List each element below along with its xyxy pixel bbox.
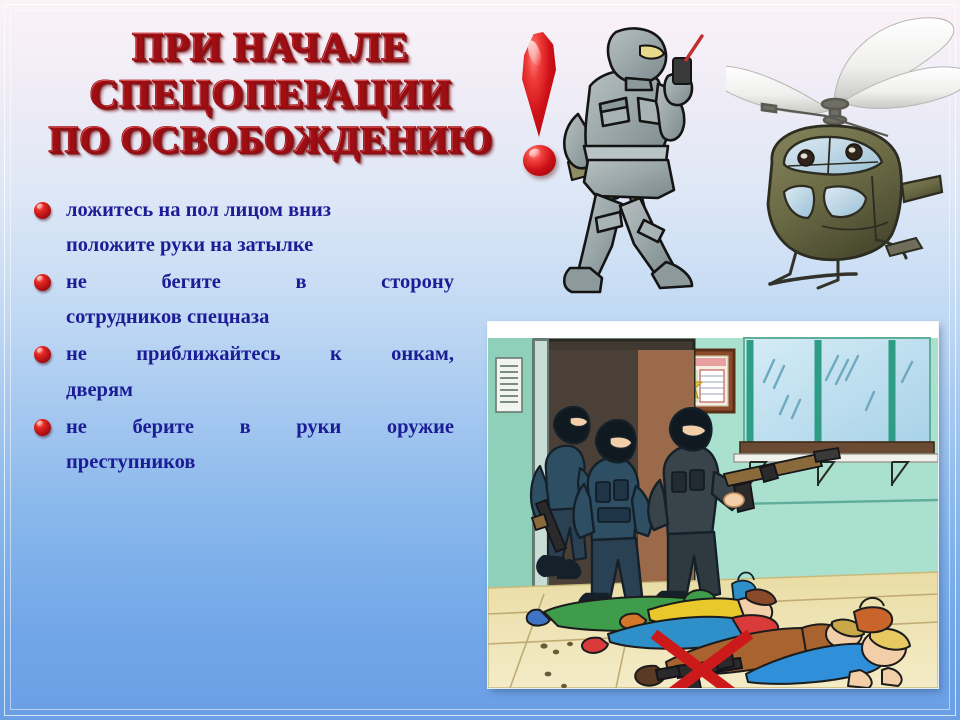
list-item-label: ложитесь на пол лицом вниз — [66, 196, 454, 225]
list-item-label: не берите в руки оружие — [66, 413, 454, 442]
list-item: сотрудников спецназа — [34, 303, 454, 332]
military-helicopter-illustration — [726, 16, 960, 296]
title-line-3: ПО ОСВОБОЖДЕНИЮ — [20, 120, 520, 159]
bullet-marker-icon — [34, 419, 51, 436]
list-item-label: дверям — [66, 376, 454, 405]
title-line-1: ПРИ НАЧАЛЕ — [20, 26, 520, 67]
list-item: не бегите в сторону — [34, 268, 454, 297]
bullet-marker-icon — [34, 202, 51, 219]
title-line-2: СПЕЦОПЕРАЦИИ — [20, 73, 520, 114]
list-item: не приближайтесь к онкам, — [34, 340, 454, 369]
list-item: преступников — [34, 448, 454, 477]
special-forces-soldier-illustration — [540, 22, 750, 312]
list-item-label: не бегите в сторону — [66, 268, 454, 297]
list-item-label: положите руки на затылке — [66, 231, 454, 260]
bullet-marker-icon — [34, 346, 51, 363]
list-item: ложитесь на пол лицом вниз — [34, 196, 454, 225]
list-item: дверям — [34, 376, 454, 405]
instruction-list: ложитесь на пол лицом вниз положите руки… — [34, 196, 454, 485]
list-item: не берите в руки оружие — [34, 413, 454, 442]
hostage-rescue-scene-illustration — [488, 322, 938, 688]
list-item-label: не приближайтесь к онкам, — [66, 340, 454, 369]
bullet-marker-icon — [34, 274, 51, 291]
list-item: положите руки на затылке — [34, 231, 454, 260]
list-item-label: сотрудников спецназа — [66, 303, 454, 332]
poster-title: ПРИ НАЧАЛЕ СПЕЦОПЕРАЦИИ ПО ОСВОБОЖДЕНИЮ — [20, 26, 520, 165]
poster-root: ПРИ НАЧАЛЕ СПЕЦОПЕРАЦИИ ПО ОСВОБОЖДЕНИЮ … — [0, 0, 960, 720]
list-item-label: преступников — [66, 448, 454, 477]
